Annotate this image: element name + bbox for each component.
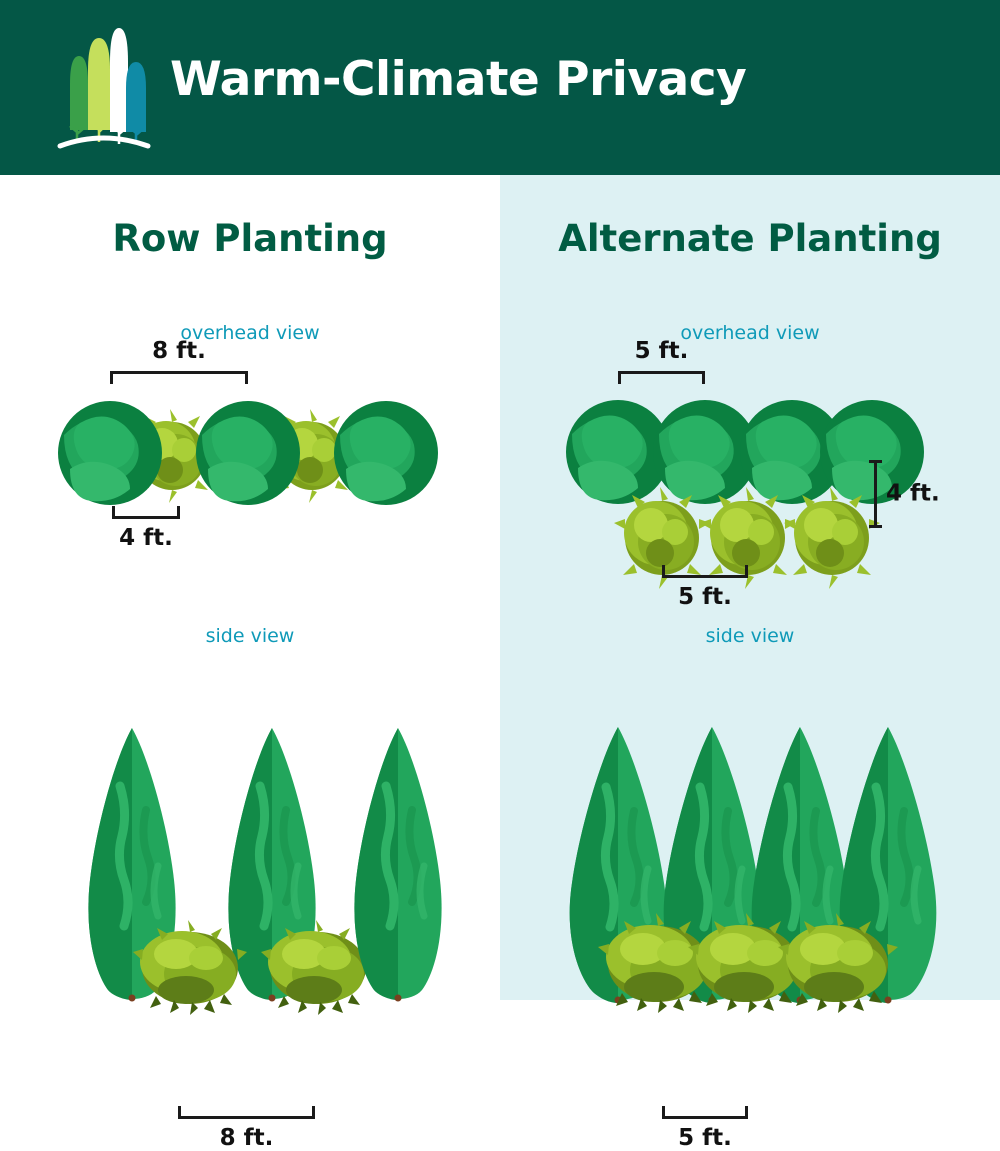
measure-label: 8 ft. bbox=[178, 1125, 315, 1151]
view-label-side-left: side view bbox=[0, 625, 500, 647]
measure-bar-vertical bbox=[874, 460, 877, 528]
panel-title-alternate-planting: Alternate Planting bbox=[500, 217, 1000, 260]
measure-bar bbox=[662, 1116, 748, 1119]
four-trees-logo-icon bbox=[48, 22, 158, 152]
view-label-overhead-left: overhead view bbox=[0, 322, 500, 344]
measure-tick-left bbox=[662, 565, 665, 578]
measure-tick-right bbox=[312, 1106, 315, 1119]
measure-label: 8 ft. bbox=[110, 338, 248, 364]
measure-tick-left bbox=[618, 371, 621, 384]
measure-tick-left bbox=[112, 506, 115, 519]
measure-tick-right bbox=[745, 1106, 748, 1119]
side-diagram-alternate-planting bbox=[500, 670, 1000, 1105]
infographic-page: Warm-Climate Privacy Row Planting overhe… bbox=[0, 0, 1000, 1000]
measure-label: 4 ft. bbox=[886, 480, 940, 506]
measure-label: 5 ft. bbox=[618, 338, 705, 364]
measure-bar bbox=[618, 371, 705, 374]
view-label-overhead-right: overhead view bbox=[500, 322, 1000, 344]
measure-bar bbox=[110, 371, 248, 374]
view-label-side-right: side view bbox=[500, 625, 1000, 647]
side-diagram-row-planting bbox=[0, 670, 500, 1105]
measure-tick-left bbox=[662, 1106, 665, 1119]
measure-tick-left bbox=[110, 371, 113, 384]
measure-bar bbox=[112, 516, 180, 519]
panel-row-planting: Row Planting overhead view bbox=[0, 175, 500, 1000]
measure-bar bbox=[662, 575, 748, 578]
panel-title-row-planting: Row Planting bbox=[0, 217, 500, 260]
measure-tick-right bbox=[745, 565, 748, 578]
measure-bar bbox=[178, 1116, 315, 1119]
measure-tick-right bbox=[702, 371, 705, 384]
overhead-diagram-row-planting bbox=[0, 390, 500, 520]
measure-tick-left bbox=[178, 1106, 181, 1119]
measure-label: 5 ft. bbox=[662, 1125, 748, 1151]
measure-tick-top bbox=[869, 460, 882, 463]
measure-tick-bottom bbox=[869, 525, 882, 528]
measure-tick-right bbox=[177, 506, 180, 519]
measure-label: 4 ft. bbox=[112, 525, 180, 551]
panel-alternate-planting: Alternate Planting overhead view bbox=[500, 175, 1000, 1000]
measure-tick-right bbox=[245, 371, 248, 384]
measure-label: 5 ft. bbox=[662, 584, 748, 610]
header-bar: Warm-Climate Privacy bbox=[0, 0, 1000, 175]
brand-title: Warm-Climate Privacy bbox=[170, 52, 746, 107]
